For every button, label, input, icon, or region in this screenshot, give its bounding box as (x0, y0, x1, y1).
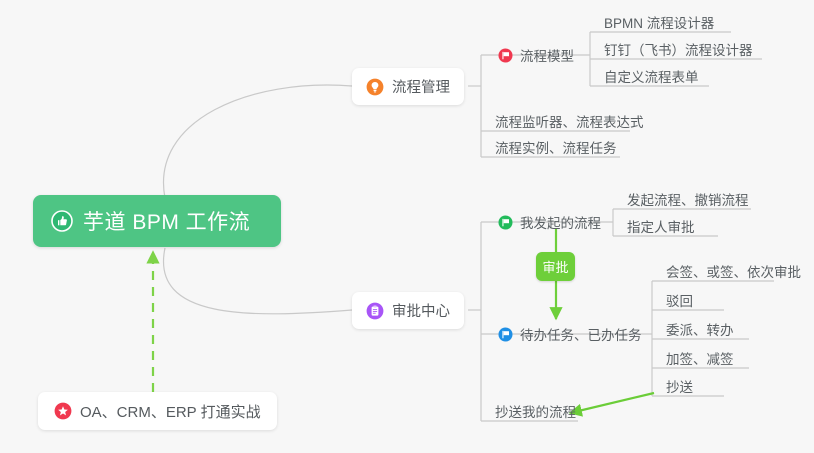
node-process-listener-expression[interactable]: 流程监听器、流程表达式 (489, 108, 650, 134)
star-icon (54, 402, 72, 420)
label-reject: 驳回 (666, 290, 693, 310)
root-label: 芋道 BPM 工作流 (83, 206, 250, 236)
lightbulb-icon (366, 78, 384, 96)
node-add-remove-sign[interactable]: 加签、减签 (660, 345, 740, 371)
label-countersign-orsign-sequential: 会签、或签、依次审批 (666, 261, 801, 281)
approval-pill-label: 审批 (542, 257, 568, 276)
wire-root-to-approval-center (163, 248, 352, 314)
node-process-instance-task[interactable]: 流程实例、流程任务 (489, 134, 623, 160)
wire-root-to-process-management (163, 85, 352, 198)
node-carbon-copy[interactable]: 抄送 (660, 373, 699, 399)
label-bpmn-designer: BPMN 流程设计器 (604, 12, 714, 32)
mindmap-canvas: 芋道 BPM 工作流 流程管理 流程模型 BPMN 流程设计器 钉 (0, 0, 814, 453)
thumbs-up-icon (51, 210, 73, 232)
clipboard-icon (366, 302, 384, 320)
root-node[interactable]: 芋道 BPM 工作流 (33, 195, 281, 247)
label-cc-to-me-process: 抄送我的流程 (495, 401, 576, 421)
label-custom-process-form: 自定义流程表单 (604, 66, 699, 86)
node-integration-practice[interactable]: OA、CRM、ERP 打通实战 (38, 392, 277, 430)
label-carbon-copy: 抄送 (666, 376, 693, 396)
label-dingtalk-feishu-designer: 钉钉（飞书）流程设计器 (604, 39, 753, 59)
label-todo-done-tasks: 待办任务、已办任务 (520, 324, 642, 344)
flag-icon (498, 215, 513, 230)
node-delegate-transfer[interactable]: 委派、转办 (660, 316, 740, 342)
label-process-instance-task: 流程实例、流程任务 (495, 137, 617, 157)
label-start-cancel-process: 发起流程、撤销流程 (627, 189, 749, 209)
label-my-initiated-process: 我发起的流程 (520, 212, 601, 232)
label-process-model: 流程模型 (520, 45, 574, 65)
node-reject[interactable]: 驳回 (660, 287, 699, 313)
node-todo-done-tasks[interactable]: 待办任务、已办任务 (492, 321, 648, 347)
branch-label-process-management: 流程管理 (392, 76, 450, 97)
approval-pill-node[interactable]: 审批 (536, 252, 575, 281)
node-start-cancel-process[interactable]: 发起流程、撤销流程 (621, 186, 755, 212)
branch-node-approval-center[interactable]: 审批中心 (352, 292, 464, 329)
node-assignee-approval[interactable]: 指定人审批 (621, 213, 701, 239)
label-assignee-approval: 指定人审批 (627, 216, 695, 236)
node-custom-process-form[interactable]: 自定义流程表单 (598, 63, 705, 89)
node-bpmn-designer[interactable]: BPMN 流程设计器 (598, 9, 720, 35)
node-countersign-orsign-sequential[interactable]: 会签、或签、依次审批 (660, 258, 807, 284)
branch-label-approval-center: 审批中心 (392, 300, 450, 321)
node-cc-to-me-process[interactable]: 抄送我的流程 (489, 398, 582, 424)
label-add-remove-sign: 加签、减签 (666, 348, 734, 368)
label-integration-practice: OA、CRM、ERP 打通实战 (80, 401, 261, 422)
node-dingtalk-feishu-designer[interactable]: 钉钉（飞书）流程设计器 (598, 36, 759, 62)
flag-icon (498, 48, 513, 63)
node-my-initiated-process[interactable]: 我发起的流程 (492, 209, 607, 235)
flag-icon (498, 327, 513, 342)
carbon-copy-flow-arrow (570, 393, 654, 413)
node-process-model[interactable]: 流程模型 (492, 42, 580, 68)
label-process-listener-expression: 流程监听器、流程表达式 (495, 111, 644, 131)
branch-node-process-management[interactable]: 流程管理 (352, 68, 464, 105)
label-delegate-transfer: 委派、转办 (666, 319, 734, 339)
